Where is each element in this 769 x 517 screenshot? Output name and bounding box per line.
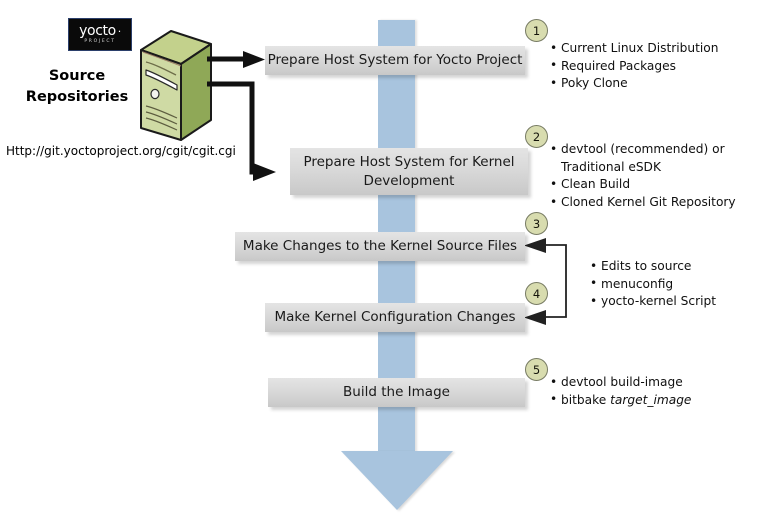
- bullet-item: Clean Build: [561, 176, 736, 194]
- bullet-item: Current Linux Distribution: [561, 40, 718, 58]
- source-label-line2: Repositories: [14, 87, 140, 108]
- process-box-step1-label: Prepare Host System for Yocto Project: [268, 51, 523, 69]
- yocto-logo-text: yocto: [79, 23, 116, 39]
- process-box-step4[interactable]: Make Kernel Configuration Changes: [265, 303, 525, 332]
- step-circle-2: 2: [525, 125, 548, 148]
- yocto-logo-word: yocto·: [79, 24, 121, 38]
- yocto-logo-subtext: PROJECT: [84, 40, 115, 45]
- bullet-item: Poky Clone: [561, 75, 718, 93]
- flow-arrow-head: [341, 451, 453, 510]
- bullets-step5: devtool build-image bitbake target_image: [548, 374, 691, 409]
- bullet-item: Required Packages: [561, 58, 718, 76]
- process-box-step3[interactable]: Make Changes to the Kernel Source Files: [235, 232, 525, 261]
- process-box-step5-label: Build the Image: [343, 383, 450, 401]
- bullet-item-prefix: bitbake: [561, 393, 610, 407]
- step-circle-4: 4: [525, 282, 548, 305]
- bullets-steps-3-and-4: Edits to source menuconfig yocto-kernel …: [588, 258, 716, 311]
- step-circle-1: 1: [525, 19, 548, 42]
- step-circle-4-number: 4: [533, 287, 540, 301]
- process-box-step5[interactable]: Build the Image: [268, 378, 525, 407]
- bullet-item: bitbake target_image: [561, 392, 691, 410]
- yocto-logo-dot: ·: [118, 25, 121, 38]
- bullet-item: devtool build-image: [561, 374, 691, 392]
- bullet-item: yocto-kernel Script: [601, 293, 716, 311]
- step-circle-3-number: 3: [533, 217, 540, 231]
- step-circle-5-number: 5: [533, 363, 540, 377]
- server-tower-icon: [138, 28, 214, 146]
- source-repositories-label: Source Repositories: [14, 66, 140, 108]
- process-box-step4-label: Make Kernel Configuration Changes: [274, 308, 515, 326]
- bullet-item: Cloned Kernel Git Repository: [561, 194, 736, 212]
- process-box-step1[interactable]: Prepare Host System for Yocto Project: [265, 46, 525, 75]
- bullets-step2: devtool (recommended) or Traditional eSD…: [548, 141, 736, 212]
- bullet-item: menuconfig: [601, 276, 716, 294]
- source-repository-url: Http://git.yoctoproject.org/cgit/cgit.cg…: [6, 144, 236, 158]
- yocto-project-logo: yocto· PROJECT: [68, 18, 132, 51]
- bullet-item: devtool (recommended) or Traditional eSD…: [561, 141, 729, 176]
- step-circle-5: 5: [525, 358, 548, 381]
- bullet-item-emphasis: target_image: [610, 393, 691, 407]
- step-circle-1-number: 1: [533, 24, 540, 38]
- bullets-step1: Current Linux Distribution Required Pack…: [548, 40, 718, 93]
- process-box-step2-label: Prepare Host System for Kernel Developme…: [290, 153, 528, 189]
- step-circle-3: 3: [525, 212, 548, 235]
- diagram-canvas: yocto· PROJECT Source Repositories Http:…: [0, 0, 769, 517]
- step-circle-2-number: 2: [533, 130, 540, 144]
- source-label-line1: Source: [14, 66, 140, 87]
- bullet-item: Edits to source: [601, 258, 716, 276]
- process-box-step3-label: Make Changes to the Kernel Source Files: [243, 237, 517, 255]
- process-box-step2[interactable]: Prepare Host System for Kernel Developme…: [290, 148, 528, 195]
